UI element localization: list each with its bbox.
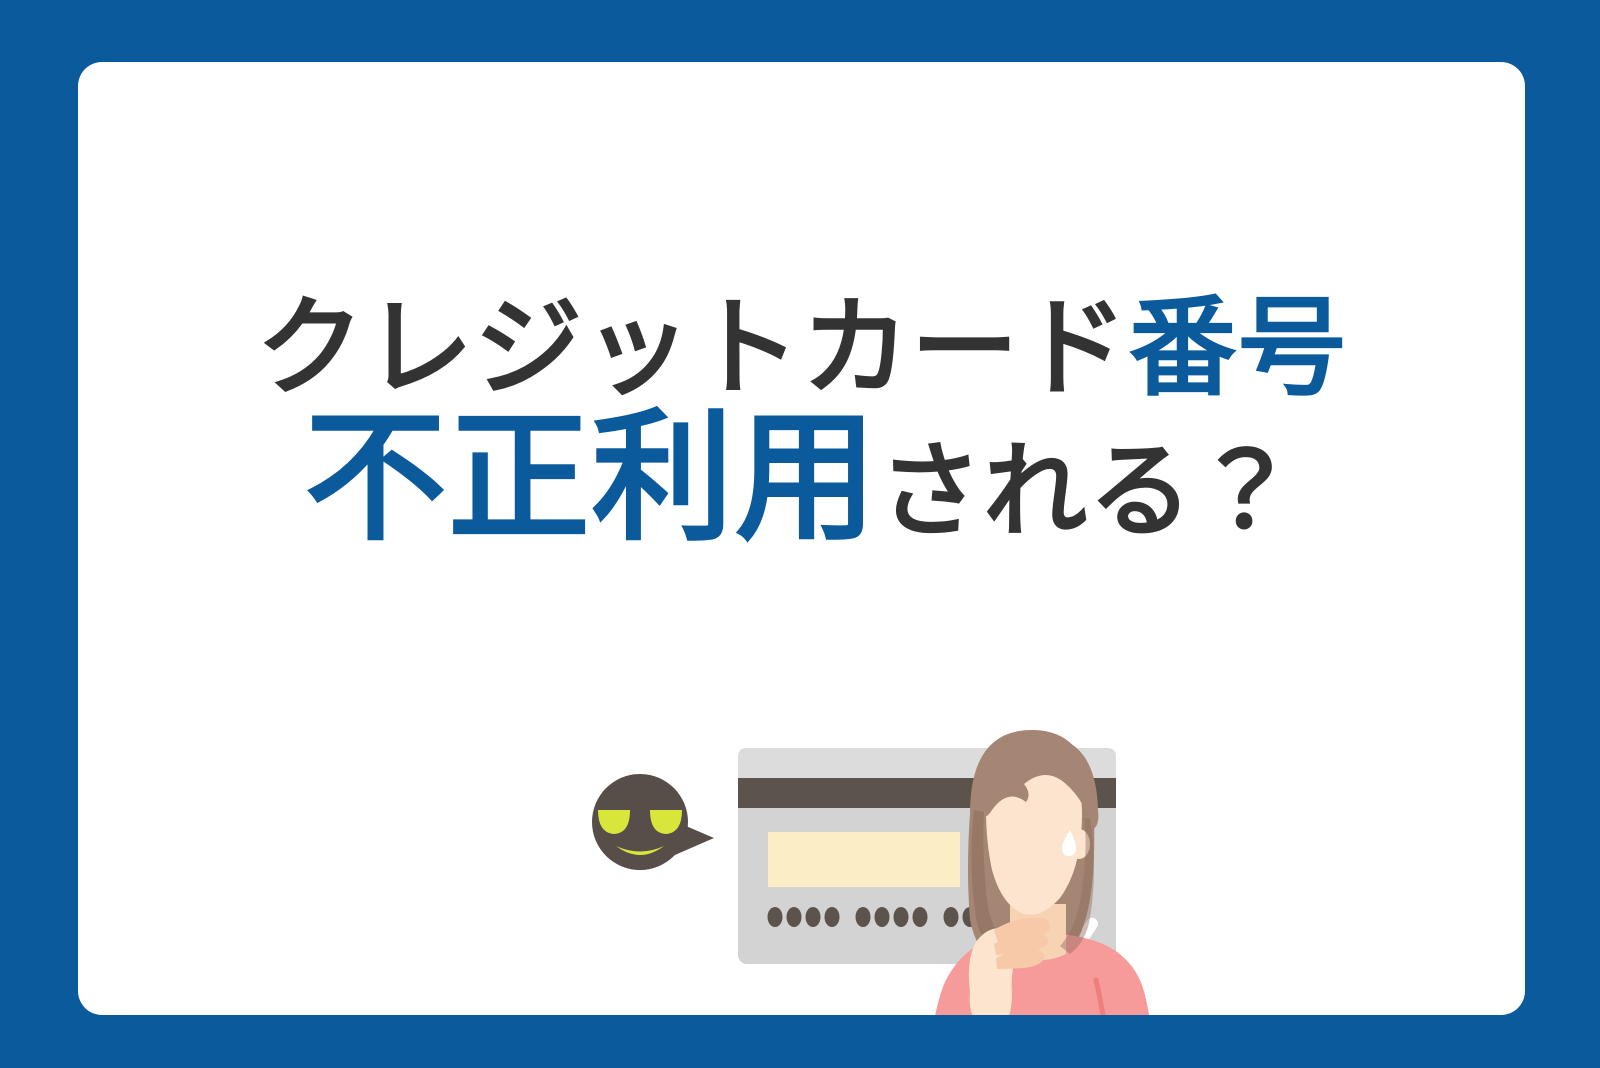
white-content-surface: クレジットカード番号 不正利用される？ 不正利用を企む人物の吹き出しとクレジット… (78, 62, 1525, 1015)
headline-segment-question: される？ (878, 440, 1298, 544)
card-number-dots (768, 907, 1016, 927)
card-brand-slashes (1044, 893, 1101, 950)
promo-banner: クレジットカード番号 不正利用される？ 不正利用を企む人物の吹き出しとクレジット… (0, 0, 1600, 1068)
headline-line-1: クレジットカード番号 (78, 294, 1525, 402)
headline-segment-credit-card: クレジットカード (256, 294, 1129, 402)
headline-segment-number: 番号 (1129, 294, 1347, 402)
headline-segment-fraudulent-use: 不正利用 (305, 408, 879, 550)
illustration-canvas (518, 692, 1158, 1015)
hand-fingers (994, 918, 1050, 969)
page-title: クレジットカード番号 不正利用される？ (78, 294, 1525, 550)
headline-line-2: 不正利用される？ (78, 408, 1525, 550)
credit-card-icon (738, 748, 1116, 964)
worried-woman-illustration (928, 730, 1154, 1015)
villain-speech-bubble-icon (592, 774, 714, 870)
